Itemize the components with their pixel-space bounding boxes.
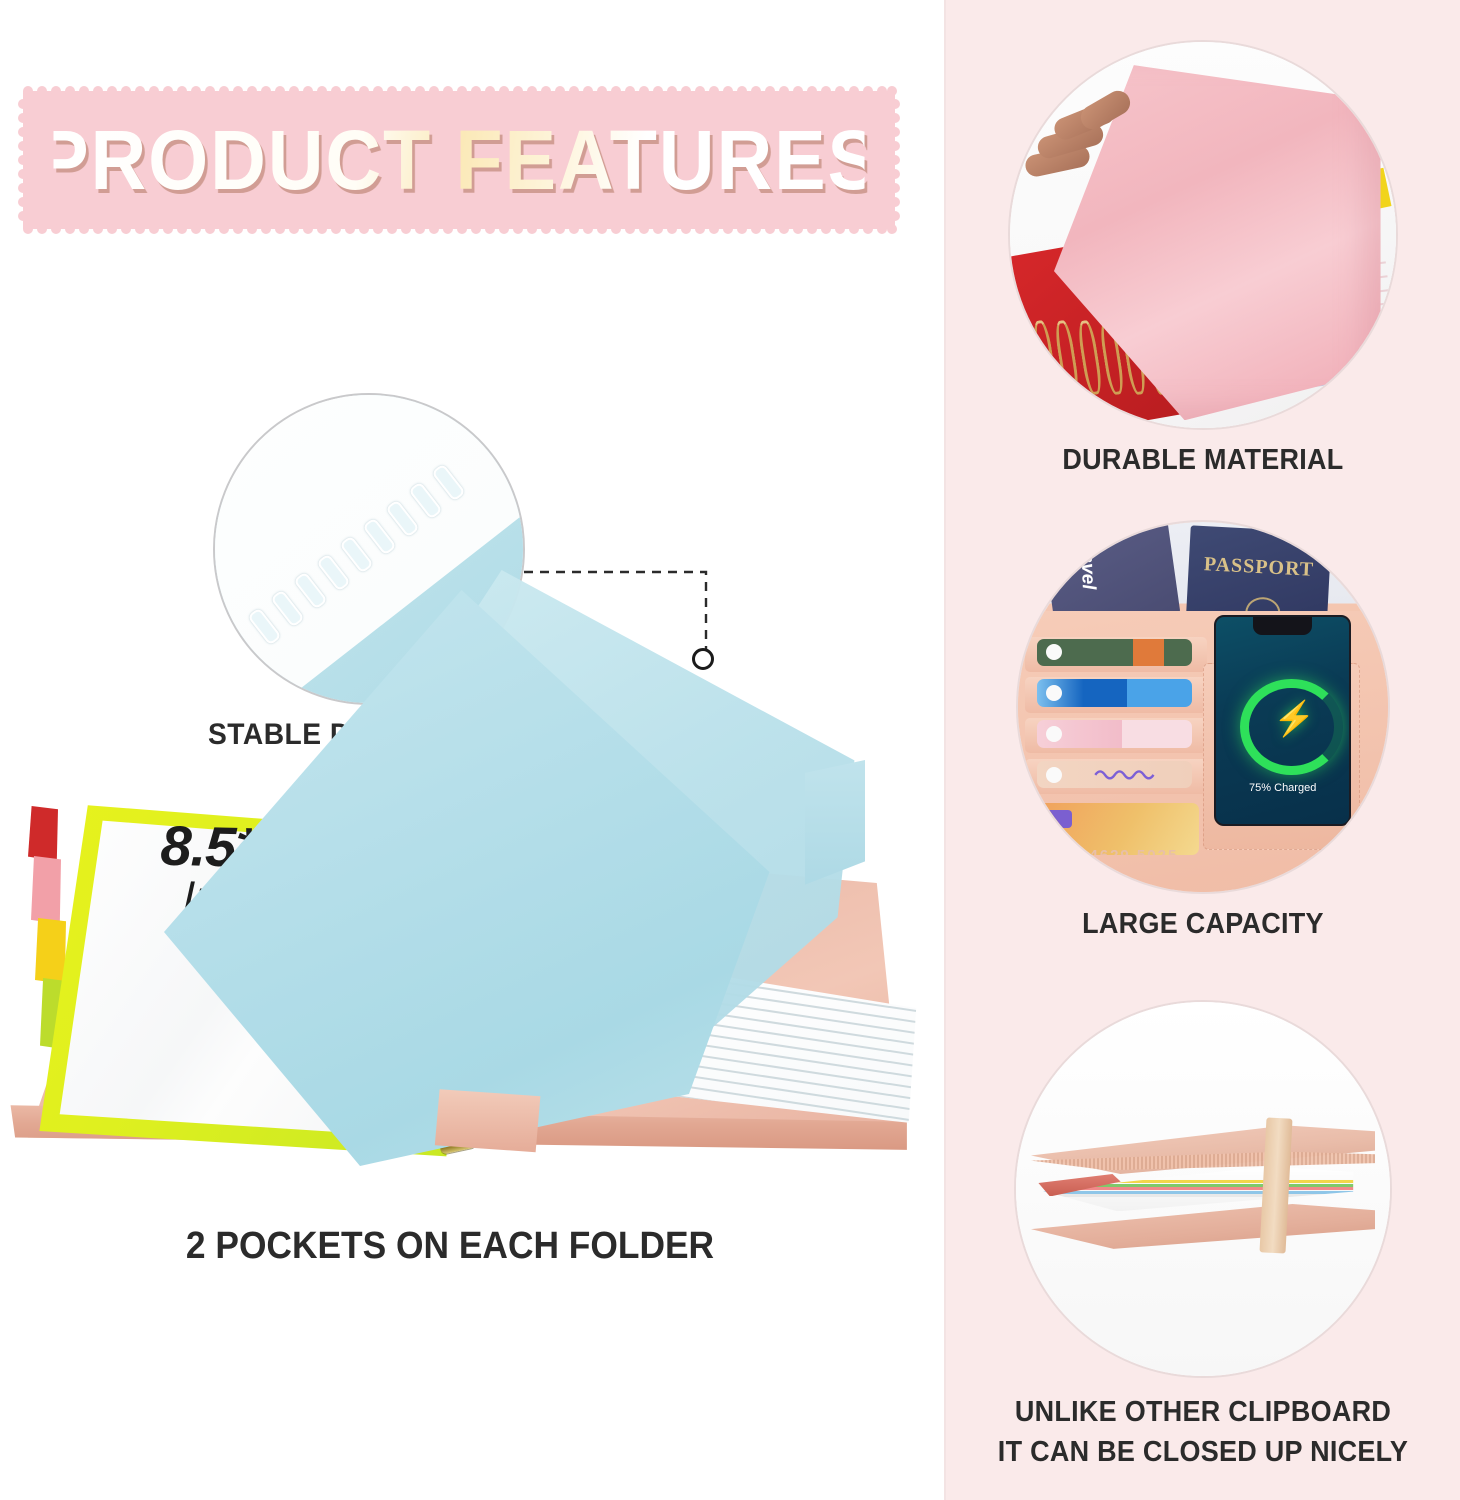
closed-up-label-line1: UNLIKE OTHER CLIPBOARD	[964, 1392, 1442, 1432]
card-blue	[1037, 679, 1192, 707]
card-number: 00 4629 5025	[1063, 847, 1179, 855]
pockets-caption: 2 POCKETS ON EACH FOLDER	[32, 1225, 869, 1268]
product-photo: 8.5*11 Inches	[0, 770, 940, 1190]
left-panel: PRODUCT FEATURES	[0, 0, 944, 1500]
hand	[1025, 104, 1141, 204]
product-features-infographic: PRODUCT FEATURES	[0, 0, 1460, 1500]
phone-notch	[1253, 617, 1312, 636]
phone-charge-status: 75% Charged	[1216, 782, 1349, 794]
closed-up-label: UNLIKE OTHER CLIPBOARD IT CAN BE CLOSED …	[964, 1392, 1442, 1472]
large-capacity-label: LARGE CAPACITY	[964, 908, 1442, 941]
closed-folder-photo	[1014, 1000, 1392, 1378]
card-squiggle	[1037, 761, 1192, 789]
section-durable-material: DURABLE MATERIAL	[946, 40, 1460, 477]
tab-pink	[31, 856, 61, 924]
tab-yellow	[35, 918, 66, 984]
circle-marker-icon	[692, 648, 714, 670]
durable-material-label: DURABLE MATERIAL	[964, 444, 1442, 477]
tab-red	[28, 806, 58, 861]
durable-material-photo	[1008, 40, 1398, 430]
card-green	[1037, 639, 1192, 667]
page-title: PRODUCT FEATURES	[53, 86, 864, 234]
section-large-capacity: travel PASSPORT	[946, 520, 1460, 941]
large-capacity-photo: travel PASSPORT	[1016, 520, 1390, 894]
blue-divider-flap	[805, 760, 865, 890]
card-orange: 00 4629 5025	[1037, 803, 1200, 855]
right-panel: DURABLE MATERIAL travel PASSPORT	[946, 0, 1460, 1500]
closed-up-label-line2: IT CAN BE CLOSED UP NICELY	[964, 1432, 1442, 1472]
phone: ⚡ 75% Charged	[1214, 615, 1351, 826]
lightning-bolt-icon: ⚡	[1273, 699, 1315, 739]
card-pink	[1037, 720, 1192, 748]
passport-text: PASSPORT	[1200, 553, 1319, 582]
section-closed-up: UNLIKE OTHER CLIPBOARD IT CAN BE CLOSED …	[946, 1000, 1460, 1472]
travel-text: travel	[1075, 538, 1099, 589]
